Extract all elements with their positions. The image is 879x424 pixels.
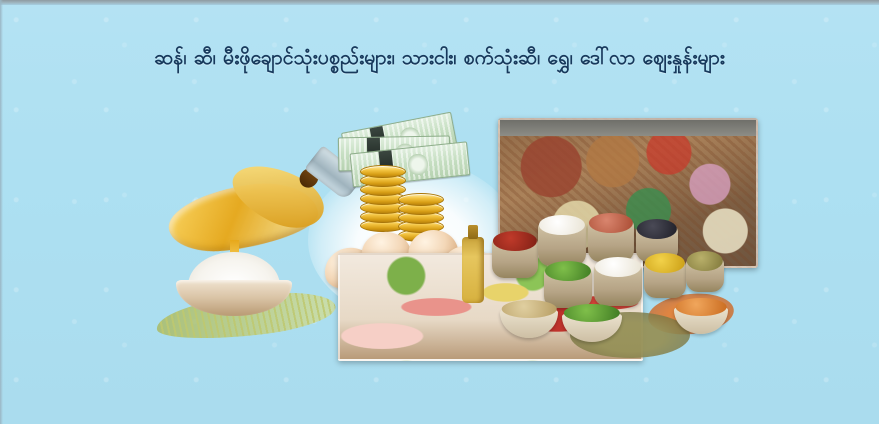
pulse-basket	[492, 238, 538, 278]
beans-pulses-image	[478, 220, 728, 360]
pulse-basket	[644, 260, 686, 298]
gold-coin	[398, 193, 444, 206]
pulse-basket	[544, 268, 592, 308]
pulse-basket	[686, 258, 724, 292]
pulse-fill	[595, 257, 641, 277]
pulse-fill	[539, 215, 585, 235]
pulse-bowl	[500, 306, 558, 338]
rice-bowl-paddy-image	[174, 252, 294, 316]
pulse-fill	[589, 213, 633, 233]
pulse-fill	[545, 261, 591, 281]
food-commodity-collage	[160, 100, 725, 362]
pulse-basket	[594, 264, 642, 306]
pulse-basket	[588, 220, 634, 262]
top-edge-strip	[0, 0, 879, 5]
pulse-fill	[502, 300, 557, 318]
pulse-fill	[493, 231, 537, 251]
pulse-fill	[564, 304, 620, 322]
pulse-fill	[687, 251, 723, 271]
pulse-fill	[676, 298, 727, 316]
pulse-basket	[538, 222, 586, 266]
gold-coin	[360, 165, 406, 178]
stall-canopy	[500, 120, 756, 136]
title-container: ဆန်၊ ဆီ၊ မီးဖိုချောင်သုံးပစ္စည်းများ၊ သာ…	[0, 44, 879, 72]
price-banner: ဆန်၊ ဆီ၊ မီးဖိုချောင်သုံးပစ္စည်းများ၊ သာ…	[0, 0, 879, 424]
pulse-fill	[637, 219, 677, 239]
gold-coin-stacks-image	[360, 144, 456, 232]
pulse-fill	[645, 253, 685, 273]
banner-title: ဆန်၊ ဆီ၊ မီးဖိုချောင်သုံးပစ္စည်းများ၊ သာ…	[154, 44, 725, 72]
